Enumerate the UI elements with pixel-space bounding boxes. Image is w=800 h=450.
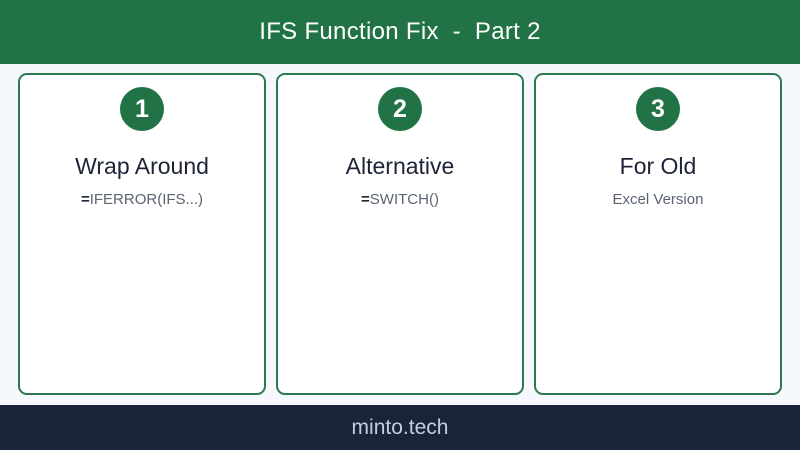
slide: IFS Function Fix - Part 2 1 Wrap Around … xyxy=(0,0,800,450)
card-alternative[interactable]: 2 Alternative =SWITCH() xyxy=(276,73,524,395)
card-title: Alternative xyxy=(346,155,455,178)
formula-text: IFERROR(IFS...) xyxy=(90,191,203,208)
formula-equals-sign: = xyxy=(361,191,370,208)
card-subtitle: =SWITCH() xyxy=(361,192,439,207)
footer-brand: minto.tech xyxy=(352,417,449,438)
card-title: For Old xyxy=(620,155,697,178)
step-number-badge: 1 xyxy=(120,87,164,131)
formula-equals-sign: = xyxy=(81,191,90,208)
header-banner: IFS Function Fix - Part 2 xyxy=(0,0,800,64)
card-subtitle: Excel Version xyxy=(613,192,704,207)
card-row: 1 Wrap Around =IFERROR(IFS...) 2 Alterna… xyxy=(0,64,800,405)
formula-text: Excel Version xyxy=(613,191,704,208)
card-subtitle: =IFERROR(IFS...) xyxy=(81,192,203,207)
step-number-badge: 3 xyxy=(636,87,680,131)
card-wrap-around[interactable]: 1 Wrap Around =IFERROR(IFS...) xyxy=(18,73,266,395)
page-title: IFS Function Fix - Part 2 xyxy=(259,20,541,44)
card-title: Wrap Around xyxy=(75,155,209,178)
step-number-badge: 2 xyxy=(378,87,422,131)
card-for-old-excel-version[interactable]: 3 For Old Excel Version xyxy=(534,73,782,395)
footer-bar: minto.tech xyxy=(0,405,800,450)
formula-text: SWITCH() xyxy=(370,191,439,208)
